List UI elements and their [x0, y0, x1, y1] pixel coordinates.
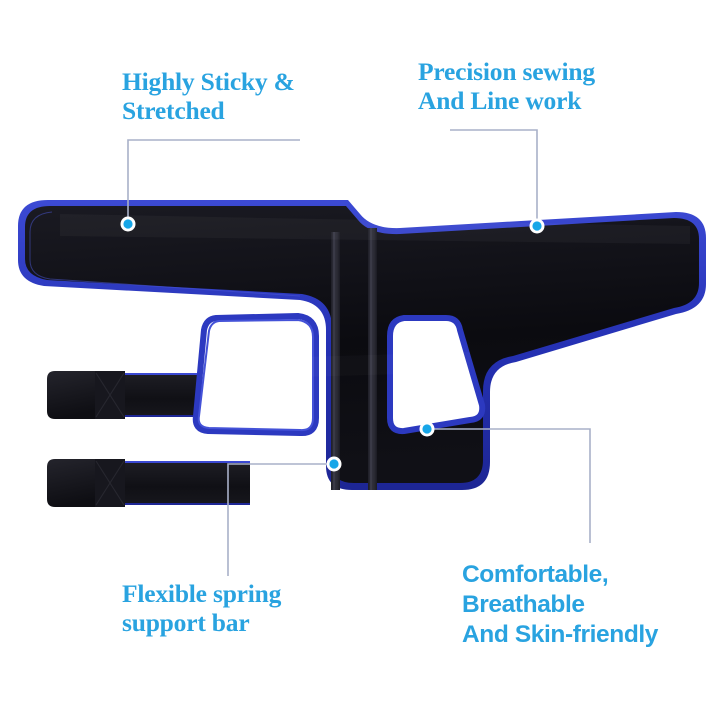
strap-lower: [47, 459, 250, 507]
callout-label-precision-sewing: Precision sewing And Line work: [418, 58, 678, 115]
callout-label-highly-sticky: Highly Sticky & Stretched: [122, 68, 372, 125]
callout-label-flexible-spring-bar: Flexible spring support bar: [122, 580, 372, 637]
callout-label-comfortable-breathable: Comfortable, Breathable And Skin-friendl…: [462, 560, 717, 650]
infographic-canvas: Highly Sticky & Stretched Precision sewi…: [0, 0, 720, 720]
